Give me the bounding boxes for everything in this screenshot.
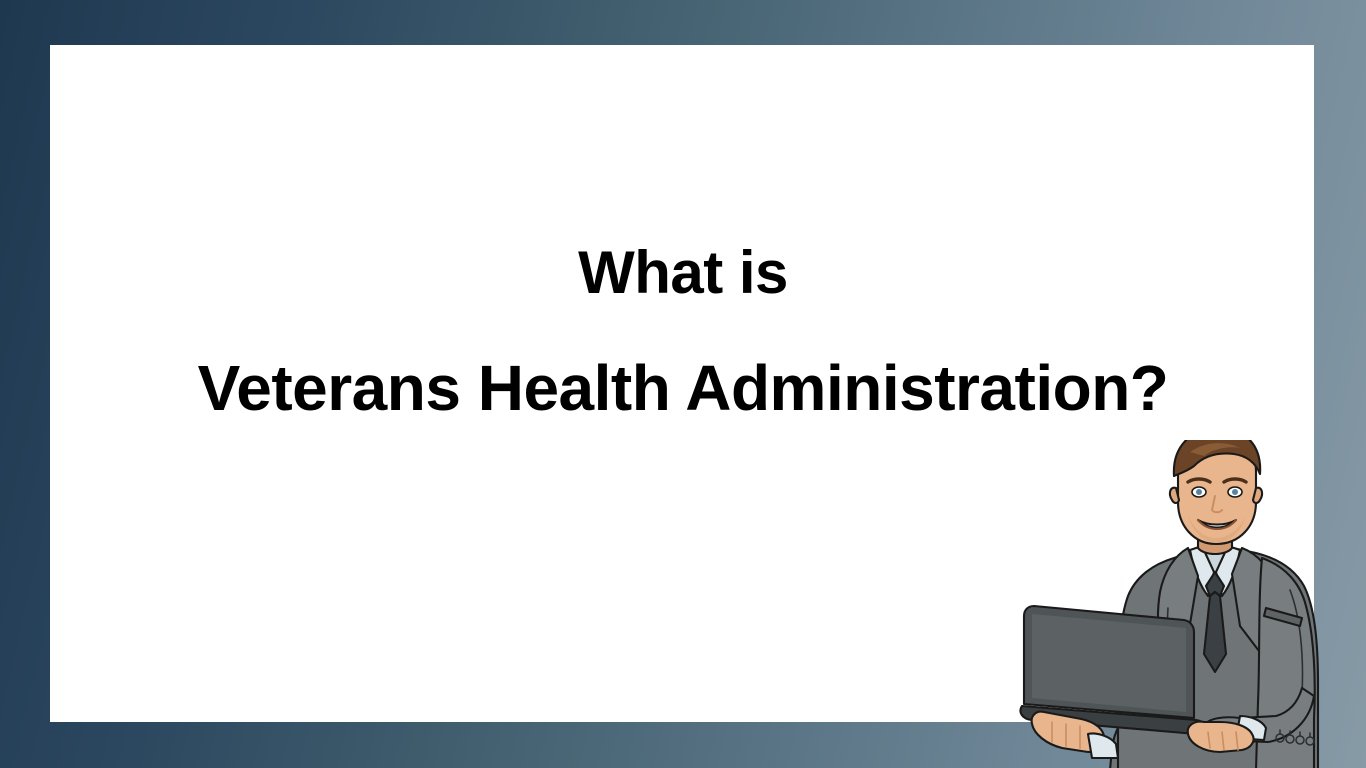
businessman-with-laptop-illustration [1018,440,1366,768]
presentation-slide: What is Veterans Health Administration? [0,0,1366,768]
